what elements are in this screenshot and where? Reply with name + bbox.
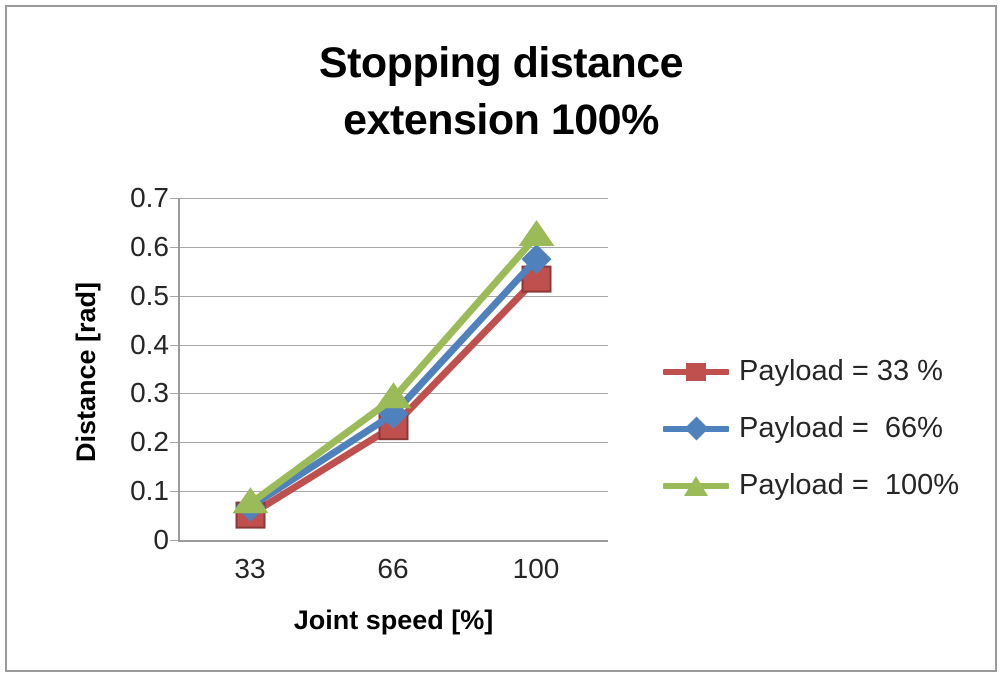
chart-legend: Payload = 33 % Payload = 66% Payload = 1… xyxy=(663,343,993,514)
chart-frame: Stopping distance extension 100% 0.7 0.6… xyxy=(5,5,997,672)
y-axis-title-text: Distance [rad] xyxy=(71,247,102,497)
x-axis-title: Joint speed [%] xyxy=(179,605,608,636)
legend-key-square-icon xyxy=(663,358,729,386)
legend-label: Payload = 100% xyxy=(739,469,959,502)
x-tick-label: 100 xyxy=(513,553,560,585)
legend-key-triangle-icon xyxy=(663,472,729,500)
series-3 xyxy=(233,220,555,513)
legend-item-payload-66[interactable]: Payload = 66% xyxy=(663,400,993,457)
legend-label: Payload = 33 % xyxy=(739,355,943,388)
x-tick-label: 33 xyxy=(234,553,265,585)
legend-item-payload-100[interactable]: Payload = 100% xyxy=(663,457,993,514)
series-layer xyxy=(7,7,1000,675)
legend-label: Payload = 66% xyxy=(739,412,943,445)
series-line xyxy=(251,236,537,503)
data-point-triangle xyxy=(519,220,555,246)
legend-item-payload-33[interactable]: Payload = 33 % xyxy=(663,343,993,400)
x-tick-label: 66 xyxy=(377,553,408,585)
legend-key-diamond-icon xyxy=(663,415,729,443)
chart-screenshot: Stopping distance extension 100% 0.7 0.6… xyxy=(0,0,1000,675)
y-axis-title: Distance [rad] xyxy=(43,247,73,497)
